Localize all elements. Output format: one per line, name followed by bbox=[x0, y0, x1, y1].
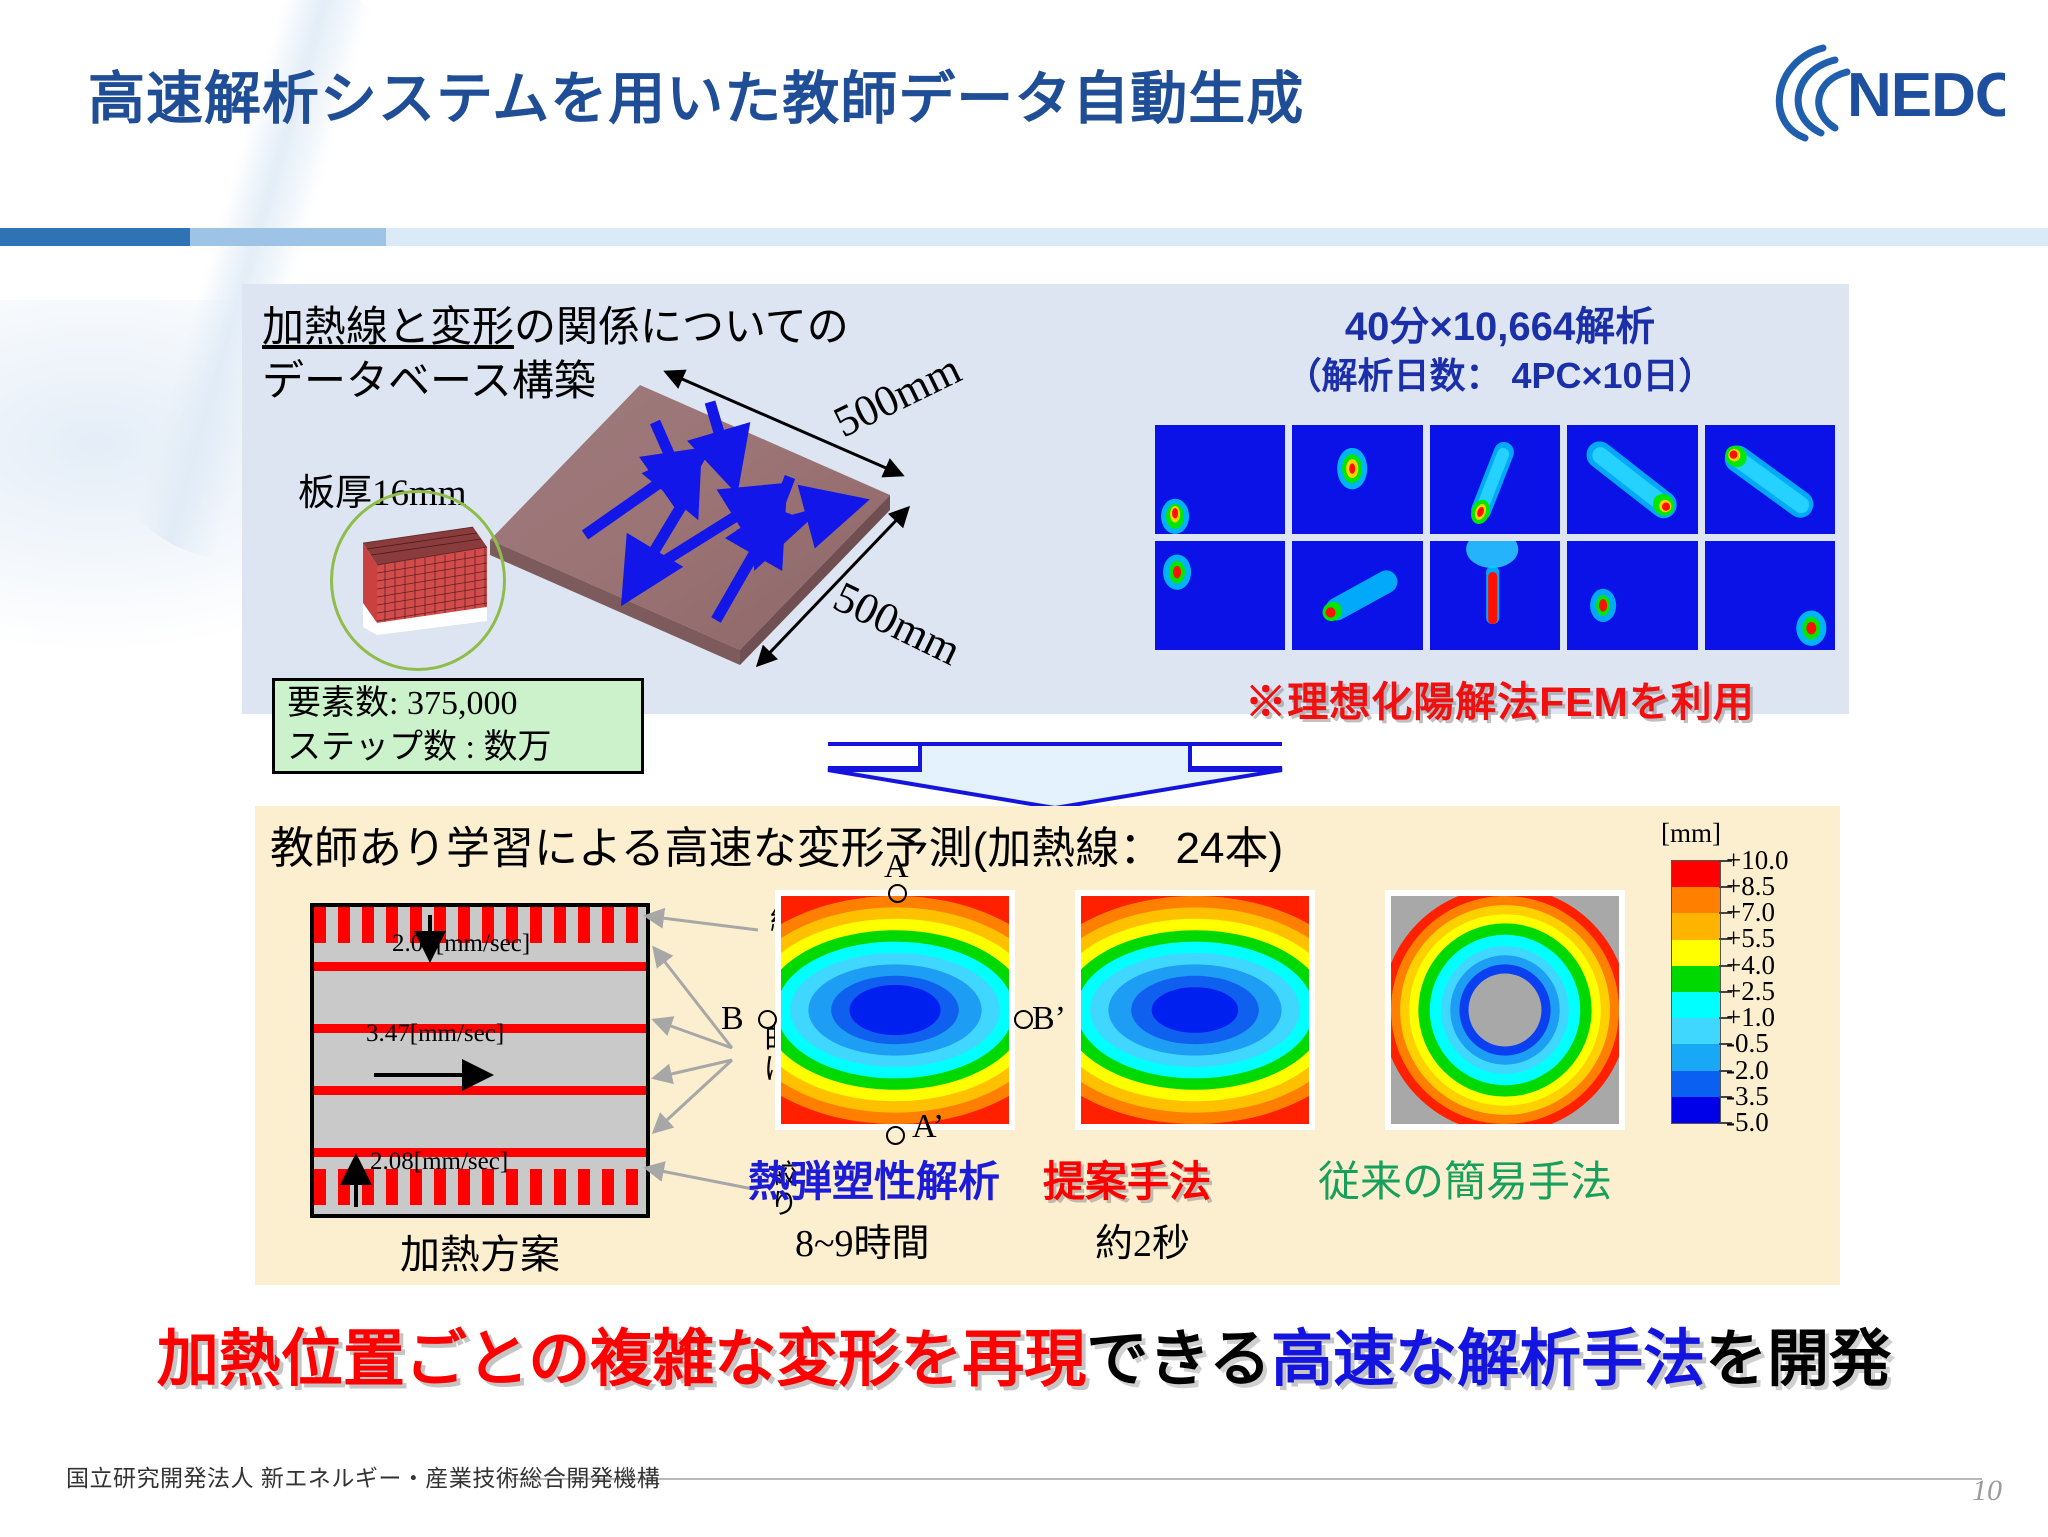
point-label-a: A bbox=[884, 848, 909, 886]
runtime-proposed: 約2秒 bbox=[1095, 1212, 1190, 1267]
footer-organization: 国立研究開発法人 新エネルギー・産業技術総合開発機構 bbox=[66, 1459, 660, 1493]
slide-root: 高速解析システムを用いた教師データ自動生成 NEDO 加熱線と変形の関係について… bbox=[0, 0, 2048, 1537]
runtime-thermal: 8~9時間 bbox=[795, 1212, 930, 1267]
rule-segment-mid bbox=[190, 228, 386, 246]
fem-thumbnail bbox=[1705, 425, 1835, 534]
color-legend bbox=[1671, 860, 1721, 1124]
fem-thumbnail bbox=[1155, 541, 1285, 650]
point-marker-a-prime bbox=[886, 1126, 905, 1145]
legend-swatch bbox=[1672, 887, 1720, 913]
legend-swatch bbox=[1672, 966, 1720, 992]
method-label-proposed: 提案手法 bbox=[1043, 1148, 1211, 1209]
rule-segment-dark bbox=[0, 228, 190, 246]
fem-thumbnail bbox=[1430, 425, 1560, 534]
legend-swatch bbox=[1672, 1071, 1720, 1097]
element-count-line2: ステップ数 : 数万 bbox=[287, 726, 641, 770]
point-label-b: B bbox=[721, 1000, 744, 1038]
down-arrow-icon bbox=[820, 740, 1290, 812]
point-label-b-prime: B’ bbox=[1032, 1000, 1066, 1038]
conclusion-text: 加熱位置ごとの複雑な変形を再現できる高速な解析手法を開発 bbox=[0, 1308, 2048, 1398]
page-title: 高速解析システムを用いた教師データ自動生成 bbox=[88, 68, 1268, 131]
fem-thumbnail bbox=[1567, 425, 1697, 534]
heating-plan-caption: 加熱方案 bbox=[310, 1222, 650, 1280]
point-marker-a bbox=[888, 884, 907, 903]
analysis-count: 40分×10,664解析 （解析日数： 4PC×10日） bbox=[1240, 302, 1760, 399]
contour-plot-conventional bbox=[1385, 890, 1625, 1130]
conclusion-part-blue: 高速な解析手法 bbox=[1271, 1325, 1705, 1394]
speed-label-bottom: 2.08[mm/sec] bbox=[370, 1148, 508, 1176]
method-label-thermal: 熱弾塑性解析 bbox=[748, 1148, 1000, 1209]
fem-method-note: ※理想化陽解法FEMを利用 bbox=[1180, 668, 1820, 728]
speed-label-top: 2.08[mm/sec] bbox=[392, 930, 530, 958]
fem-thumbnail bbox=[1292, 425, 1422, 534]
legend-tick-labels: +10.0 +8.5 +7.0 +5.5 +4.0 +2.5 +1.0 -0.5… bbox=[1726, 845, 1836, 1145]
prediction-title: 教師あり学習による高速な変形予測(加熱線： 24本) bbox=[270, 812, 1283, 876]
contour-plot-proposed bbox=[1075, 890, 1315, 1130]
svg-text:NEDO: NEDO bbox=[1847, 61, 2005, 130]
legend-swatch bbox=[1672, 1097, 1720, 1123]
fem-thumbnail bbox=[1705, 541, 1835, 650]
contour-plot-thermal bbox=[775, 890, 1015, 1130]
nedo-logo: NEDO bbox=[1735, 38, 2005, 143]
fem-thumbnail bbox=[1155, 425, 1285, 534]
page-number: 10 bbox=[1972, 1474, 2002, 1508]
method-label-conventional: 従来の簡易手法 bbox=[1318, 1148, 1612, 1209]
point-marker-b bbox=[758, 1010, 777, 1029]
zoom-highlight-circle bbox=[330, 490, 506, 671]
speed-label-mid: 3.47[mm/sec] bbox=[366, 1020, 504, 1048]
conclusion-part-black-2: を開発 bbox=[1705, 1325, 1891, 1394]
point-marker-b-prime bbox=[1014, 1010, 1033, 1029]
legend-unit-label: [mm] bbox=[1661, 818, 1721, 849]
fem-thumbnail bbox=[1430, 541, 1560, 650]
fem-thumbnail bbox=[1567, 541, 1697, 650]
conclusion-part-red: 加熱位置ごとの複雑な変形を再現 bbox=[157, 1325, 1086, 1394]
fem-thumbnail bbox=[1292, 541, 1422, 650]
analysis-count-main: 40分×10,664解析 bbox=[1240, 302, 1760, 353]
legend-swatch bbox=[1672, 861, 1720, 887]
legend-tick: -5.0 bbox=[1726, 1107, 1769, 1138]
analysis-days: （解析日数： 4PC×10日） bbox=[1240, 353, 1760, 399]
header-rule bbox=[0, 228, 2048, 246]
legend-swatch bbox=[1672, 1044, 1720, 1070]
legend-swatch bbox=[1672, 940, 1720, 966]
point-label-a-prime: A’ bbox=[912, 1108, 944, 1146]
legend-swatch bbox=[1672, 1018, 1720, 1044]
legend-swatch bbox=[1672, 913, 1720, 939]
legend-swatch bbox=[1672, 992, 1720, 1018]
element-count-line1: 要素数: 375,000 bbox=[287, 682, 641, 726]
conclusion-part-black-1: できる bbox=[1086, 1325, 1271, 1394]
element-count-box: 要素数: 375,000 ステップ数 : 数万 bbox=[272, 678, 644, 774]
footer-divider bbox=[512, 1478, 1982, 1480]
fem-result-thumbnail-grid bbox=[1155, 425, 1835, 650]
rule-segment-light bbox=[386, 228, 2048, 246]
